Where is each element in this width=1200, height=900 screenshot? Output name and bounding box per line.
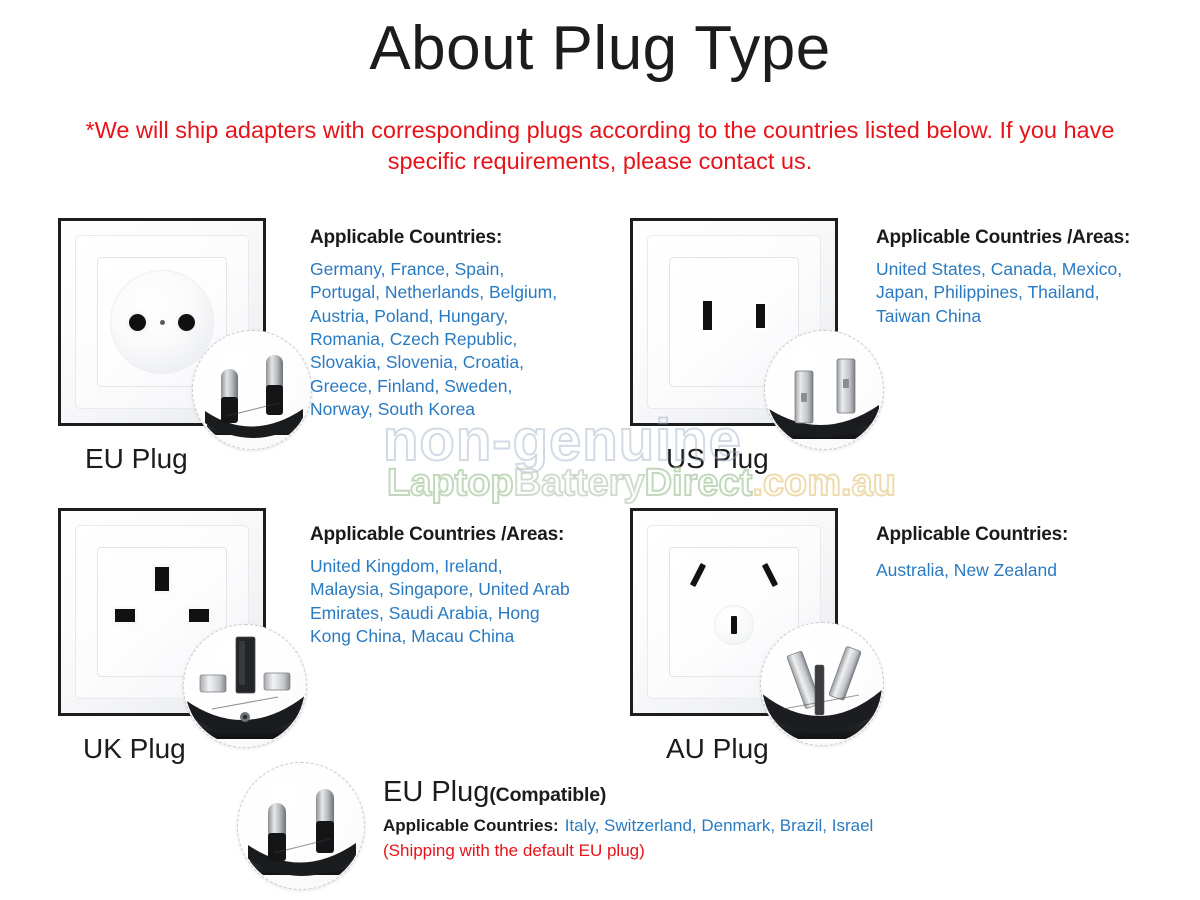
applicable-heading-au: Applicable Countries: [876, 524, 1068, 546]
eu-plug-photo-circle [192, 330, 312, 450]
eu-hole-left [129, 314, 146, 331]
uk-plug-drawing-icon [184, 625, 306, 747]
eu-center-pin [160, 320, 165, 325]
uk-earth-slot [155, 567, 169, 591]
page-title: About Plug Type [0, 16, 1200, 81]
eu-compatible-country-list: Italy, Switzerland, Denmark, Brazil, Isr… [559, 816, 874, 835]
plug-label-us: US Plug [666, 443, 769, 475]
country-list-us: United States, Canada, Mexico, Japan, Ph… [876, 258, 1154, 328]
au-plug-drawing-icon [761, 623, 883, 745]
us-slot-right [756, 304, 765, 328]
us-slot-left [703, 301, 712, 330]
eu-compatible-note: (Shipping with the default EU plug) [383, 841, 873, 861]
watermark-site-part4: .com.au [752, 462, 896, 504]
applicable-heading-uk: Applicable Countries /Areas: [310, 524, 564, 546]
uk-slot-right [189, 609, 209, 622]
page-subtitle: *We will ship adapters with correspondin… [60, 115, 1140, 177]
us-plug-photo-circle [764, 330, 884, 450]
eu-compatible-applicable-heading: Applicable Countries: [383, 816, 559, 835]
eu-compatible-title-main: EU Plug [383, 776, 489, 808]
eu-hole-right [178, 314, 195, 331]
eu-compatible-applicable: Applicable Countries:Italy, Switzerland,… [383, 816, 873, 836]
country-list-eu: Germany, France, Spain, Portugal, Nether… [310, 258, 562, 422]
watermark-site: LaptopBatteryDirect.com.au [387, 462, 896, 505]
eu-compatible-plug-photo-circle [237, 762, 365, 890]
eu-round-recess [110, 270, 214, 374]
applicable-heading-us: Applicable Countries /Areas: [876, 227, 1130, 249]
uk-plug-photo-circle [183, 624, 307, 748]
watermark-site-part1: Laptop [387, 462, 514, 504]
au-plug-photo-circle [760, 622, 884, 746]
eu-compatible-title-suffix: (Compatible) [489, 784, 606, 806]
au-slot-right [762, 563, 778, 587]
watermark-site-part2: Battery [514, 462, 645, 504]
plug-label-uk: UK Plug [83, 733, 186, 765]
us-plug-drawing-icon [765, 331, 883, 449]
country-list-uk: United Kingdom, Ireland, Malaysia, Singa… [310, 555, 572, 648]
au-slot-left [690, 563, 706, 587]
eu-compatible-block: EU Plug(Compatible) Applicable Countries… [383, 778, 873, 861]
eu-plug-drawing-icon [238, 763, 364, 889]
au-earth-slot [731, 616, 737, 634]
plug-label-eu: EU Plug [85, 443, 188, 475]
country-list-au: Australia, New Zealand [876, 559, 1156, 582]
uk-slot-left [115, 609, 135, 622]
eu-plug-drawing-icon [193, 331, 311, 449]
applicable-heading-eu: Applicable Countries: [310, 227, 502, 249]
au-earth-recess [714, 605, 754, 645]
plug-label-au: AU Plug [666, 733, 769, 765]
eu-compatible-title: EU Plug(Compatible) [383, 778, 873, 807]
